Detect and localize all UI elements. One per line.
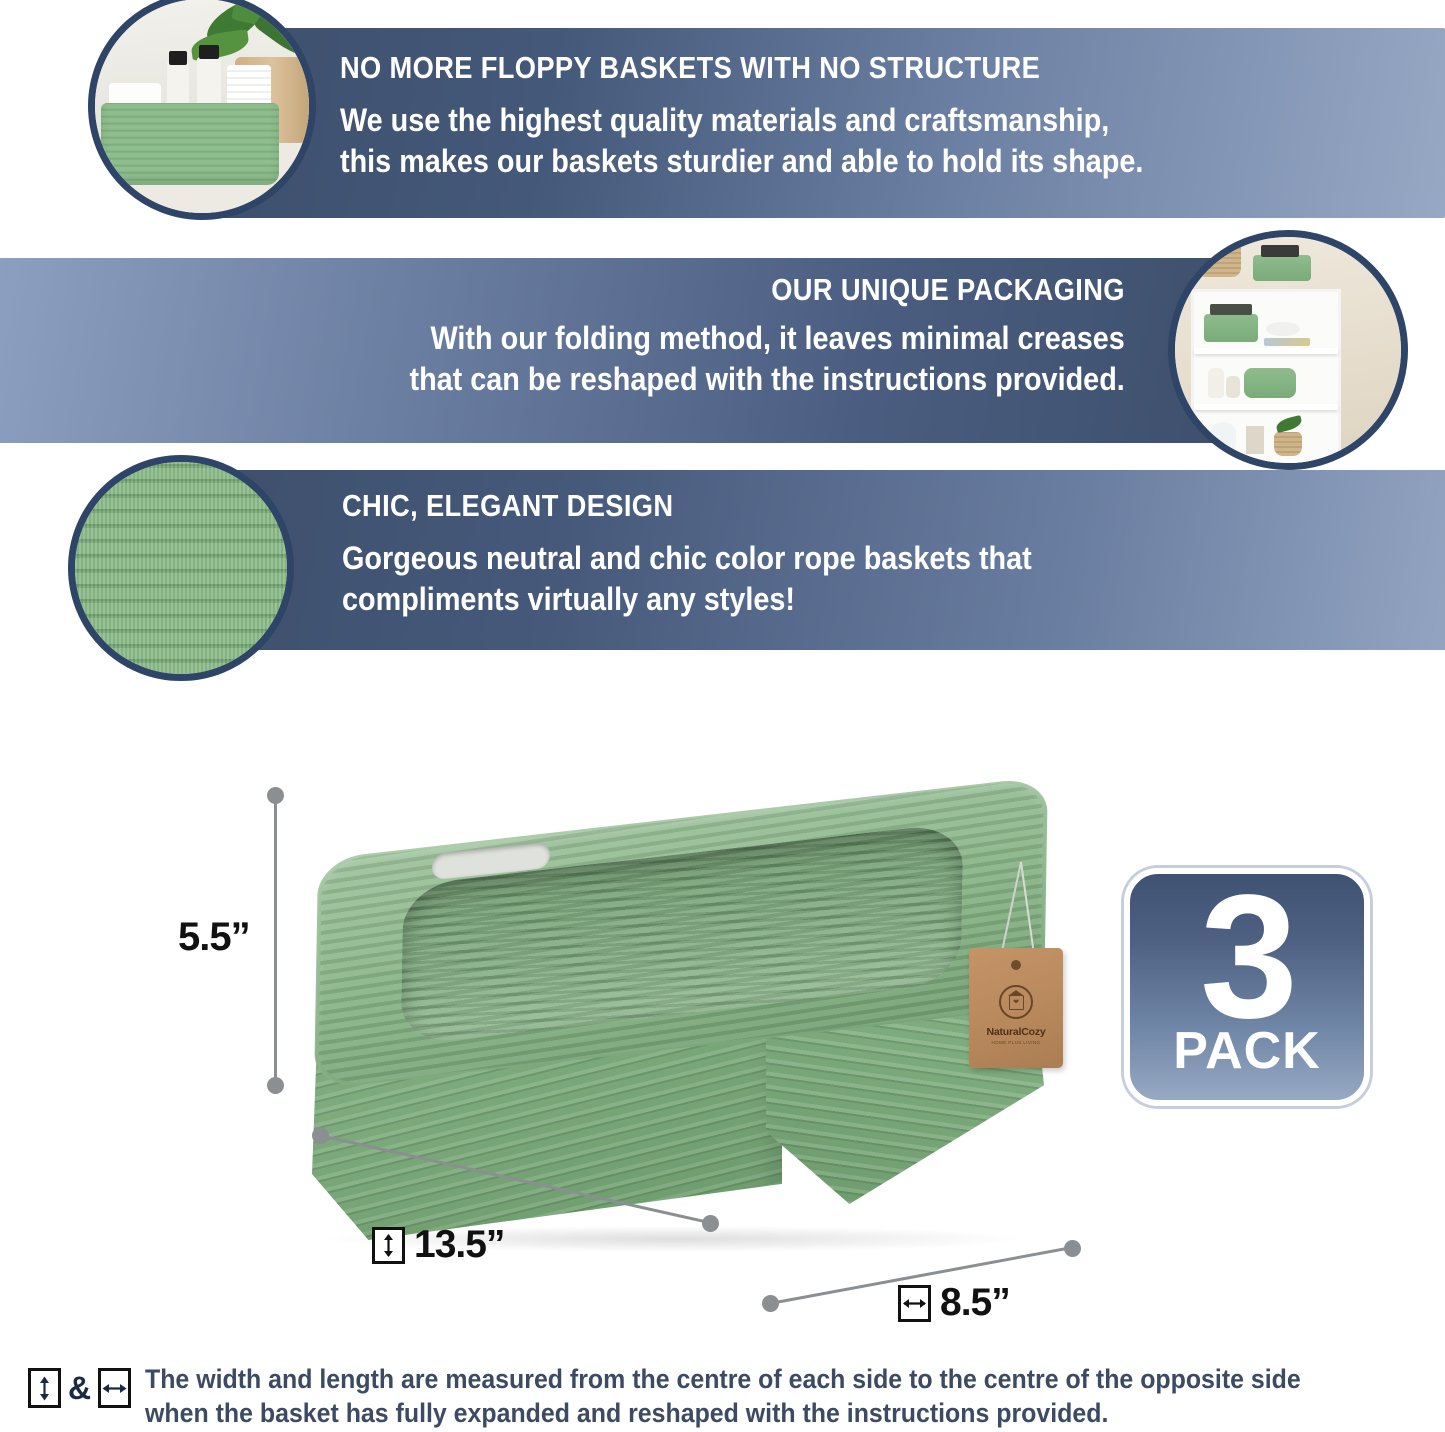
shelf-board xyxy=(1194,460,1338,466)
books-stack xyxy=(1261,245,1299,257)
books-stack xyxy=(1264,338,1310,346)
dimension-endpoint-dot xyxy=(312,1127,329,1144)
rope-texture-photo xyxy=(68,455,294,681)
pack-count-badge: 3 PACK xyxy=(1124,868,1370,1106)
brand-hang-tag: ❤ NaturalCozy HOME PLUS LIVING xyxy=(969,948,1063,1068)
footer-text-line: The width and length are measured from t… xyxy=(145,1362,1301,1396)
banner-body-line: that can be reshaped with the instructio… xyxy=(410,359,1125,400)
ampersand-label: & xyxy=(68,1370,91,1407)
books-stack xyxy=(1210,304,1252,315)
green-basket xyxy=(1253,255,1311,281)
green-basket xyxy=(1244,368,1296,398)
tag-tagline: HOME PLUS LIVING xyxy=(992,1040,1041,1045)
green-basket xyxy=(1204,314,1258,342)
ceramic-vase xyxy=(1208,368,1224,398)
green-rope-basket xyxy=(101,103,279,185)
height-dimension-line xyxy=(274,800,277,1084)
vertical-double-arrow-icon xyxy=(28,1368,61,1408)
length-dimension-value: 13.5” xyxy=(414,1223,504,1267)
banner-body-line: Gorgeous neutral and chic color rope bas… xyxy=(342,538,1032,579)
glass-vase xyxy=(1210,422,1236,452)
vertical-double-arrow-icon xyxy=(372,1227,405,1264)
shelf-baskets-photo xyxy=(1168,230,1408,470)
banner-body-line: this makes our baskets sturdier and able… xyxy=(340,141,1143,182)
dimension-endpoint-dot xyxy=(702,1215,719,1232)
bathroom-basket-photo xyxy=(88,0,316,220)
plant-leaf-icon xyxy=(1275,415,1303,433)
length-dimension-chip: 13.5” xyxy=(372,1223,504,1267)
tag-hole xyxy=(1011,960,1021,970)
shelf-board xyxy=(1194,404,1338,410)
banner-body: With our folding method, it leaves minim… xyxy=(410,318,1125,400)
banner-body-line: We use the highest quality materials and… xyxy=(340,100,1143,141)
pack-count-word: PACK xyxy=(1173,1025,1320,1077)
footer-text: The width and length are measured from t… xyxy=(145,1362,1301,1431)
banner-body-line: With our folding method, it leaves minim… xyxy=(410,318,1125,359)
dimension-endpoint-dot xyxy=(267,787,284,804)
banner-body: Gorgeous neutral and chic color rope bas… xyxy=(342,538,1032,620)
width-dimension-chip: 8.5” xyxy=(898,1281,1010,1325)
wicker-planter xyxy=(1274,432,1302,456)
feature-banner-structure: NO MORE FLOPPY BASKETS WITH NO STRUCTURE… xyxy=(200,28,1445,218)
dimension-endpoint-dot xyxy=(762,1295,779,1312)
ceramic-vase xyxy=(1226,376,1240,398)
basket-body xyxy=(306,814,1048,1244)
horizontal-double-arrow-icon xyxy=(898,1285,931,1322)
product-basket-image xyxy=(258,726,1078,1286)
rope-weave-texture xyxy=(75,462,287,674)
heart-glyph: ❤ xyxy=(1010,996,1023,1009)
width-dimension-value: 8.5” xyxy=(940,1281,1010,1325)
banner-title: NO MORE FLOPPY BASKETS WITH NO STRUCTURE xyxy=(340,50,1040,86)
banner-body-line: compliments virtually any styles! xyxy=(342,579,1032,620)
banner-body: We use the highest quality materials and… xyxy=(340,100,1143,182)
paper-box xyxy=(1246,426,1264,454)
feature-banner-design: CHIC, ELEGANT DESIGN Gorgeous neutral an… xyxy=(190,470,1445,650)
bottle-cap xyxy=(169,51,187,65)
shelf-board xyxy=(1194,348,1338,354)
footer-text-line: when the basket has fully expanded and r… xyxy=(145,1396,1301,1430)
banner-title: OUR UNIQUE PACKAGING xyxy=(771,272,1125,308)
house-shape: ❤ xyxy=(1009,995,1024,1010)
dimension-endpoint-dot xyxy=(1064,1240,1081,1257)
banner-title: CHIC, ELEGANT DESIGN xyxy=(342,488,673,524)
feature-banner-packaging: OUR UNIQUE PACKAGING With our folding me… xyxy=(0,258,1245,443)
footer-icon-group: & xyxy=(28,1362,131,1408)
measurement-disclaimer: & The width and length are measured from… xyxy=(28,1362,1428,1431)
house-heart-icon: ❤ xyxy=(999,985,1033,1019)
bottle-cap xyxy=(199,45,219,59)
dimension-endpoint-dot xyxy=(267,1077,284,1094)
tag-brand-name: NaturalCozy xyxy=(986,1026,1045,1038)
horizontal-double-arrow-icon xyxy=(98,1368,131,1408)
white-bowl xyxy=(1266,322,1300,336)
white-bookshelf xyxy=(1191,289,1341,467)
height-dimension-label: 5.5” xyxy=(178,915,250,960)
pack-count-number: 3 xyxy=(1200,885,1294,1029)
